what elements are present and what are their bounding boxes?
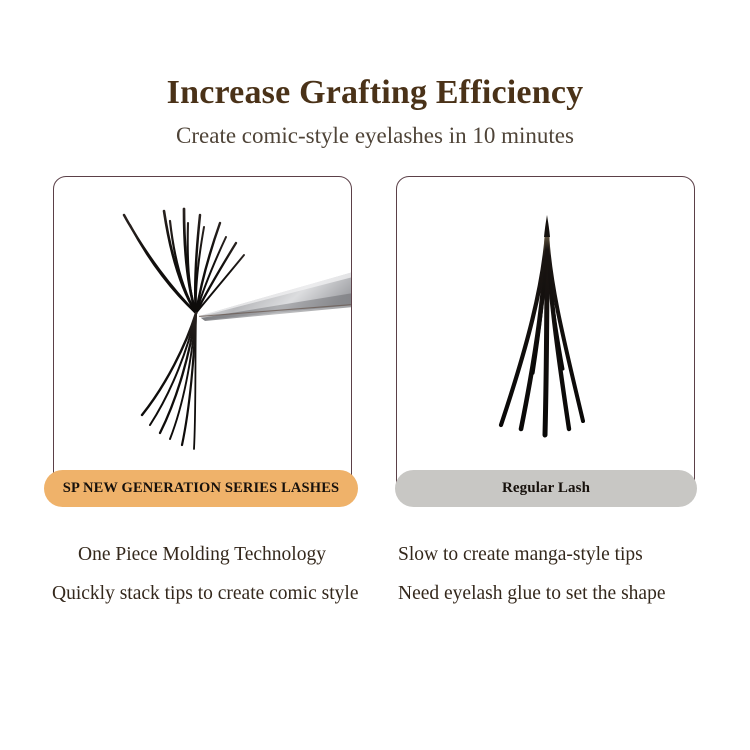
panel-sp-new-generation bbox=[53, 176, 352, 498]
badge-label: Regular Lash bbox=[502, 480, 590, 497]
feature-item: Slow to create manga-style tips bbox=[398, 545, 704, 565]
comparison-panels bbox=[53, 176, 701, 511]
feature-list-regular-lash: Slow to create manga-style tips Need eye… bbox=[398, 545, 704, 603]
tweezers-icon bbox=[199, 272, 352, 321]
feature-list-sp-new-generation: One Piece Molding Technology Quickly sta… bbox=[52, 545, 352, 603]
badge-regular-lash: Regular Lash bbox=[395, 470, 697, 507]
feature-item: Need eyelash glue to set the shape bbox=[398, 584, 704, 604]
feature-lists: One Piece Molding Technology Quickly sta… bbox=[0, 545, 750, 625]
page-subtitle: Create comic-style eyelashes in 10 minut… bbox=[0, 122, 750, 150]
feature-item: Quickly stack tips to create comic style bbox=[52, 584, 352, 604]
badge-sp-new-generation: SP NEW GENERATION SERIES LASHES bbox=[44, 470, 358, 507]
page-title: Increase Grafting Efficiency bbox=[0, 74, 750, 112]
product-comparison-page: Increase Grafting Efficiency Create comi… bbox=[0, 0, 750, 750]
header: Increase Grafting Efficiency Create comi… bbox=[0, 74, 750, 150]
regular-lash-cluster-icon bbox=[397, 177, 695, 498]
badge-label: SP NEW GENERATION SERIES LASHES bbox=[63, 480, 339, 497]
lash-tip bbox=[544, 215, 550, 237]
lash-fan-with-tweezers-icon bbox=[54, 177, 352, 498]
feature-item: One Piece Molding Technology bbox=[52, 545, 352, 565]
panel-regular-lash bbox=[396, 176, 695, 498]
